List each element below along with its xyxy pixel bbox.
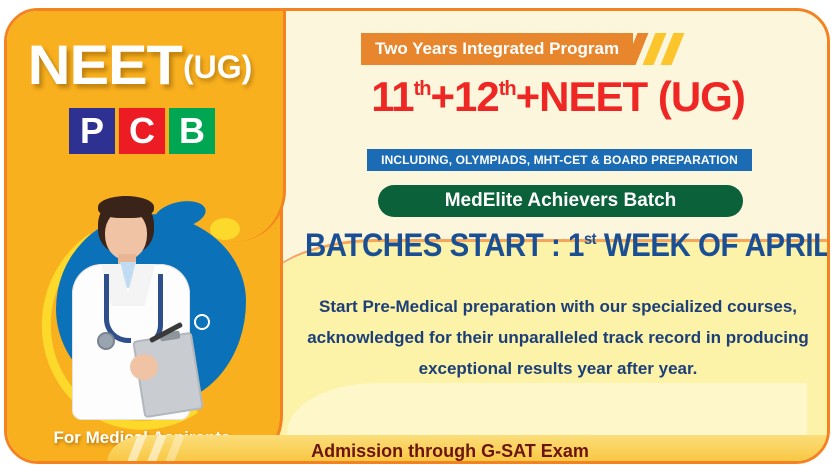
headline-grade-12: +12 bbox=[430, 73, 498, 120]
doctor-illustration bbox=[42, 190, 258, 422]
exam-name-text: NEET bbox=[27, 32, 181, 97]
inclusions-strip: INCLUDING, OLYMPIADS, MHT-CET & BOARD PR… bbox=[367, 149, 752, 171]
batch-name-label: MedElite Achievers Batch bbox=[445, 190, 677, 212]
batch-start-prefix: BATCHES START : 1 bbox=[305, 227, 584, 263]
neet-promo-banner: NEET(UG) P C B bbox=[0, 0, 837, 473]
stethoscope-bell bbox=[97, 332, 115, 350]
headline-sup-th-1: th bbox=[414, 78, 431, 100]
exam-level-text: (UG) bbox=[183, 49, 252, 86]
subject-badge-chemistry: C bbox=[119, 108, 165, 154]
doctor-figure bbox=[64, 196, 214, 420]
subject-badge-physics: P bbox=[69, 108, 115, 154]
inclusions-strip-label: INCLUDING, OLYMPIADS, MHT-CET & BOARD PR… bbox=[381, 153, 738, 167]
subject-badges: P C B bbox=[4, 108, 280, 154]
headline-neet-ug: +NEET (UG) bbox=[516, 73, 745, 120]
right-content-panel: Two Years Integrated Program 11th+12th+N… bbox=[283, 11, 830, 464]
headline-sup-th-2: th bbox=[499, 78, 516, 100]
yellow-dot-decor bbox=[210, 218, 240, 240]
program-ribbon-label: Two Years Integrated Program bbox=[375, 39, 619, 59]
doctor-hand bbox=[130, 354, 158, 380]
subject-badge-biology: B bbox=[169, 108, 215, 154]
batch-start-line: BATCHES START : 1st WEEK OF APRIL bbox=[305, 227, 811, 264]
admission-footer-label: Admission through G-SAT Exam bbox=[107, 435, 830, 464]
doctor-hair-front bbox=[98, 196, 154, 218]
course-headline: 11th+12th+NEET (UG) bbox=[283, 73, 830, 121]
banner-card: NEET(UG) P C B bbox=[4, 8, 830, 464]
description-paragraph: Start Pre-Medical preparation with our s… bbox=[299, 291, 817, 384]
admission-footer-strip: Admission through G-SAT Exam bbox=[107, 435, 830, 464]
program-ribbon: Two Years Integrated Program bbox=[361, 33, 633, 65]
batch-start-suffix: WEEK OF APRIL bbox=[596, 227, 830, 263]
exam-title: NEET(UG) bbox=[4, 32, 280, 97]
batch-name-pill: MedElite Achievers Batch bbox=[378, 185, 743, 217]
headline-grade-11: 11 bbox=[371, 73, 413, 120]
left-orange-panel: NEET(UG) P C B bbox=[4, 8, 283, 464]
batch-start-sup: st bbox=[584, 231, 596, 248]
